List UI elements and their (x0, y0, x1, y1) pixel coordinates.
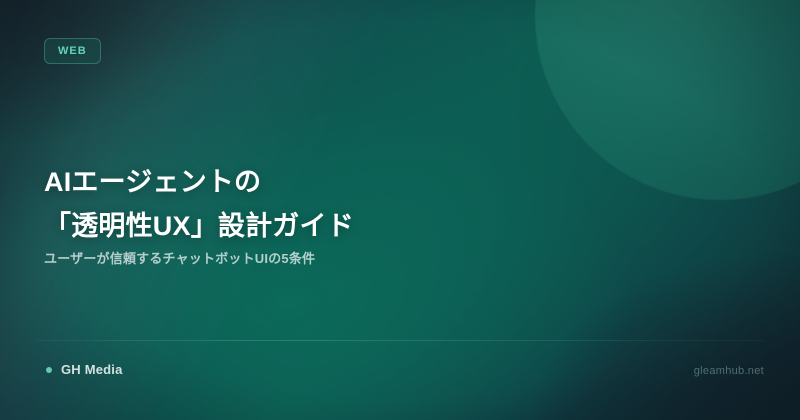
page-title-line-2: 「透明性UX」設計ガイド (44, 204, 354, 248)
category-badge-label: WEB (58, 45, 87, 57)
footer-divider (36, 340, 764, 341)
dot-icon (46, 367, 52, 373)
footer-brand: GH Media (46, 362, 123, 377)
footer-brand-label: GH Media (61, 362, 123, 377)
category-badge: WEB (44, 38, 101, 64)
page-subtitle: ユーザーが信頼するチャットボットUIの5条件 (44, 248, 315, 267)
footer-site-url: gleamhub.net (694, 365, 764, 377)
page-title: AIエージェントの 「透明性UX」設計ガイド (44, 160, 354, 248)
page-title-line-1: AIエージェントの (44, 160, 354, 204)
hero-card: WEB AIエージェントの 「透明性UX」設計ガイド ユーザーが信頼するチャット… (0, 0, 800, 420)
card-content: WEB AIエージェントの 「透明性UX」設計ガイド ユーザーが信頼するチャット… (0, 0, 800, 420)
